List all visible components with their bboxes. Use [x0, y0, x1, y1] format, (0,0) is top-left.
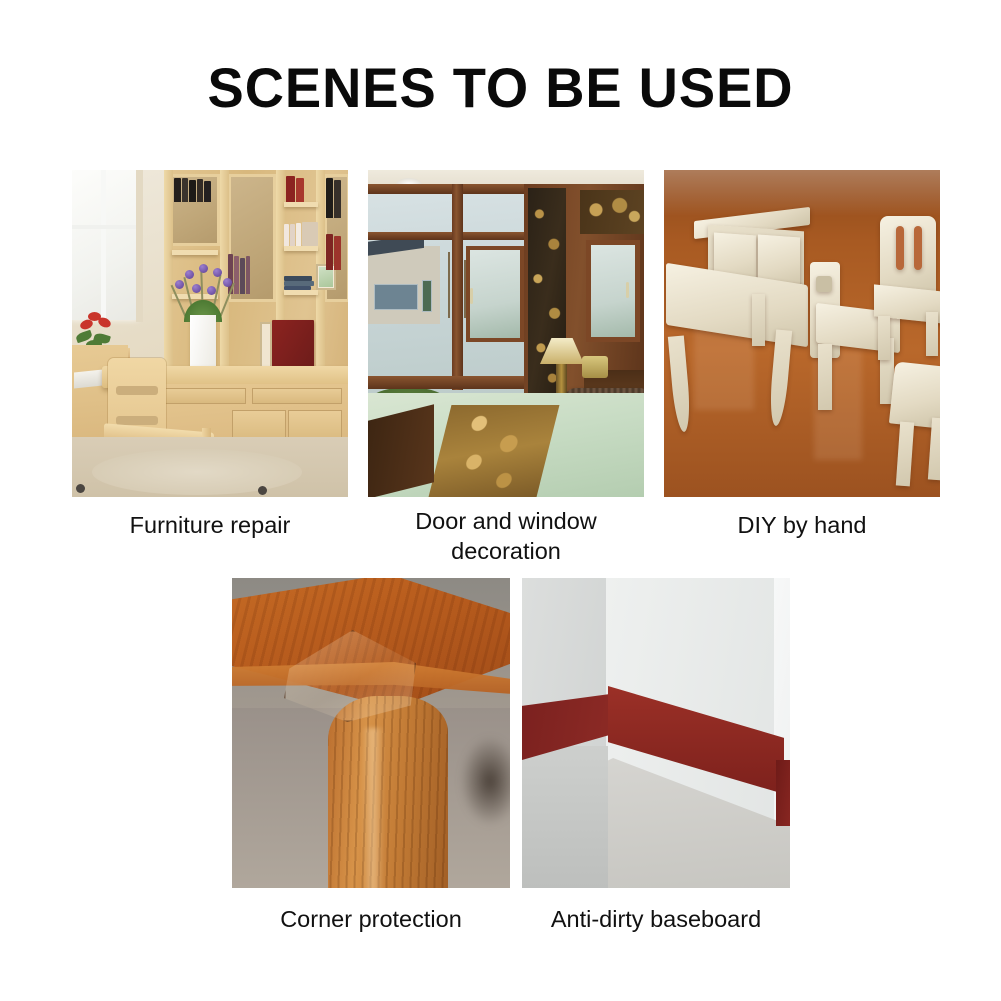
casement-window: [466, 246, 524, 342]
book-stack: [284, 286, 311, 290]
window-frame: [136, 170, 143, 322]
leg-highlight: [362, 728, 384, 888]
window-mullion-horizontal: [368, 232, 534, 240]
caption-line: Anti-dirty baseboard: [502, 904, 810, 934]
carved-wood-panel: [580, 190, 644, 234]
window-mullion-horizontal: [72, 225, 138, 229]
book: [334, 236, 341, 270]
book: [240, 258, 245, 294]
flower-bud: [175, 280, 184, 289]
flower-bud: [199, 264, 208, 273]
bed-footboard: [368, 404, 434, 497]
caption-line: DIY by hand: [644, 510, 960, 540]
floor-left: [522, 746, 608, 888]
lamp-accent: [582, 356, 608, 378]
casement-window: [586, 240, 640, 342]
book: [284, 224, 289, 246]
book: [174, 178, 181, 202]
caption-line: Furniture repair: [52, 510, 368, 540]
shadow: [460, 736, 510, 826]
flower-bud: [207, 286, 216, 295]
book: [326, 178, 333, 218]
panel-corner-protection: Corner protection: [232, 578, 510, 888]
chair-slat-gap: [116, 386, 158, 395]
bookshelf-shelf: [284, 290, 318, 295]
window-sill: [368, 376, 534, 389]
book: [296, 178, 304, 202]
book: [246, 256, 250, 294]
caption-line: Door and window: [348, 506, 664, 536]
book: [326, 234, 333, 270]
mini-table-leg: [752, 294, 765, 346]
panel-furniture-repair: Furniture repair: [72, 170, 348, 497]
book-stand: [260, 322, 272, 368]
building-window: [374, 284, 418, 310]
display-book: [272, 320, 314, 368]
photo-door-window-decoration: [368, 170, 644, 497]
bookshelf-shelf: [172, 250, 218, 255]
flower-bud: [223, 278, 232, 287]
book: [296, 223, 301, 246]
mini-table-leg: [768, 329, 792, 426]
mini-chair-leg: [818, 344, 832, 410]
book: [182, 178, 188, 202]
page-title: SCENES TO BE USED: [15, 55, 986, 120]
bookshelf-shelf: [284, 246, 318, 251]
book-stack: [302, 222, 318, 246]
caption-corner-protection: Corner protection: [212, 904, 530, 934]
photo-anti-dirty-baseboard: [522, 578, 790, 888]
book: [334, 180, 341, 218]
window-mullion-horizontal: [368, 184, 534, 194]
photo-diy-by-hand: [664, 170, 940, 497]
caption-diy-by-hand: DIY by hand: [644, 510, 960, 540]
caption-line: decoration: [348, 536, 664, 566]
flower-bud: [213, 268, 222, 277]
panel-door-window-decoration: Door and window decoration: [368, 170, 644, 497]
flower-vase: [190, 315, 216, 367]
flower-petal: [97, 316, 113, 330]
building-window: [422, 280, 432, 312]
mini-chair-cutout: [816, 276, 832, 292]
caster-wheel: [258, 486, 267, 495]
mini-chair-leg: [896, 422, 914, 487]
desk-drawer: [252, 388, 342, 404]
bookshelf-shelf: [284, 202, 318, 207]
mini-chair-leg: [926, 312, 938, 356]
window-mullion-vertical: [452, 184, 463, 390]
flower-bud: [192, 284, 201, 293]
area-rug: [92, 449, 302, 495]
caption-anti-dirty-baseboard: Anti-dirty baseboard: [502, 904, 810, 934]
photo-furniture-repair: [72, 170, 348, 497]
book: [204, 181, 211, 202]
mini-chair-slot: [914, 226, 922, 270]
window-handle: [470, 288, 473, 304]
photo-corner-protection: [232, 578, 510, 888]
mini-table-leg: [668, 335, 692, 432]
table-leg: [328, 696, 448, 888]
book: [290, 224, 295, 246]
panel-diy-by-hand: DIY by hand: [664, 170, 940, 497]
window-icon: [72, 170, 138, 320]
window-handle: [626, 282, 629, 298]
book: [197, 179, 203, 202]
baseboard-end-cap: [776, 760, 790, 826]
mini-chair-slot: [896, 226, 904, 270]
book: [286, 176, 295, 202]
chair-slat-gap: [116, 416, 158, 425]
caption-furniture-repair: Furniture repair: [52, 510, 368, 540]
flower-bud: [185, 270, 194, 279]
mini-chair-leg: [878, 316, 890, 360]
caption-line: Corner protection: [212, 904, 530, 934]
bed-runner: [429, 405, 560, 497]
panel-anti-dirty-baseboard: Anti-dirty baseboard: [522, 578, 790, 888]
book: [189, 180, 196, 202]
caption-door-window-decoration: Door and window decoration: [348, 506, 664, 566]
tree: [448, 252, 450, 318]
lamp-base: [556, 362, 567, 396]
window-mullion-vertical: [101, 170, 106, 320]
caster-wheel: [76, 484, 85, 493]
